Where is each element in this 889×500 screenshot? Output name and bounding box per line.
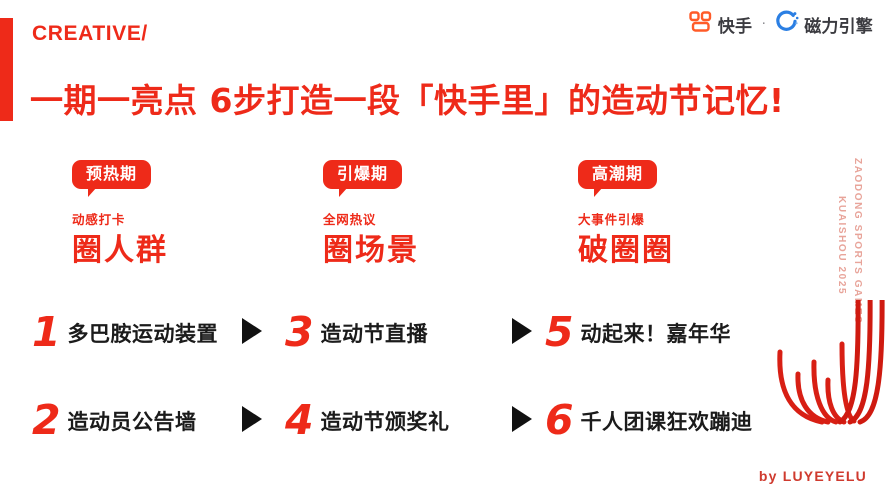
stage-column-1: 预热期 动感打卡 圈人群 — [72, 160, 302, 268]
kuaishou-logo-icon — [689, 11, 713, 37]
stage-3-pill-tail — [594, 187, 603, 197]
step-item-2: 2 造动员公告墙 — [32, 400, 197, 441]
stage-column-2: 引爆期 全网热议 圈场景 — [323, 160, 553, 268]
left-accent-bar — [0, 18, 13, 121]
magnetic-engine-logo-icon — [775, 10, 799, 38]
step-item-1: 1 多巴胺运动装置 — [32, 312, 218, 353]
stage-2-title: 圈场景 — [323, 234, 553, 268]
step-1-label: 多巴胺运动装置 — [68, 318, 219, 348]
magnetic-engine-brand: 磁力引擎 — [775, 10, 873, 38]
step-3-label: 造动节直播 — [321, 318, 429, 348]
stage-1-pill-tail — [88, 187, 97, 197]
stage-3-title: 破圈圈 — [578, 234, 808, 268]
arrow-icon-row1-1 — [242, 318, 262, 344]
stage-column-3: 高潮期 大事件引爆 破圈圈 — [578, 160, 808, 268]
footer-credit: by LUYEYELU — [759, 468, 867, 484]
step-item-4: 4 造动节颁奖礼 — [285, 400, 450, 441]
step-1-number: 1 — [32, 312, 61, 353]
step-3-number: 3 — [285, 312, 314, 353]
stage-2-pill-tail — [339, 187, 348, 197]
brand-logo-bar: 快手 · 磁力引擎 — [689, 10, 873, 38]
stage-3-subtitle: 大事件引爆 — [578, 209, 808, 228]
stage-1-title: 圈人群 — [72, 234, 302, 268]
kuaishou-brand-name: 快手 — [718, 12, 752, 37]
step-2-number: 2 — [32, 400, 61, 441]
magnetic-engine-brand-name: 磁力引擎 — [804, 12, 873, 37]
slide-canvas: CREATIVE/ 一期一亮点 6步打造一段「快手里」的造动节记忆! 快手 · — [0, 0, 889, 500]
stage-1-pill: 预热期 — [72, 160, 151, 189]
brand-separator: · — [761, 15, 766, 33]
kuaishou-brand: 快手 — [689, 11, 752, 37]
stage-1-subtitle: 动感打卡 — [72, 209, 302, 228]
arrow-icon-row2-1 — [242, 406, 262, 432]
side-text-kuaishou-year: KUAISHOU 2025 — [836, 196, 847, 295]
stage-2-pill-wrap: 引爆期 — [323, 160, 402, 189]
step-item-3: 3 造动节直播 — [285, 312, 428, 353]
page-title: 一期一亮点 6步打造一段「快手里」的造动节记忆! — [30, 74, 785, 122]
stage-3-pill: 高潮期 — [578, 160, 657, 189]
stage-2-pill: 引爆期 — [323, 160, 402, 189]
stage-3-pill-wrap: 高潮期 — [578, 160, 657, 189]
step-item-5: 5 动起来！嘉年华 — [545, 312, 731, 353]
step-grid: 1 多巴胺运动装置 3 造动节直播 5 动起来！嘉年华 2 造动员公告墙 4 造… — [0, 300, 889, 460]
step-6-number: 6 — [545, 400, 574, 441]
stage-1-pill-wrap: 预热期 — [72, 160, 151, 189]
step-2-label: 造动员公告墙 — [68, 406, 197, 436]
kicker-label: CREATIVE/ — [32, 22, 148, 46]
step-6-label: 千人团课狂欢蹦迪 — [581, 406, 753, 436]
swoosh-graphic-icon — [766, 300, 886, 460]
step-4-number: 4 — [285, 400, 314, 441]
step-5-number: 5 — [545, 312, 574, 353]
stage-2-subtitle: 全网热议 — [323, 209, 553, 228]
step-item-6: 6 千人团课狂欢蹦迪 — [545, 400, 753, 441]
step-5-label: 动起来！嘉年华 — [581, 318, 732, 348]
step-4-label: 造动节颁奖礼 — [321, 406, 450, 436]
arrow-icon-row2-2 — [512, 406, 532, 432]
arrow-icon-row1-2 — [512, 318, 532, 344]
